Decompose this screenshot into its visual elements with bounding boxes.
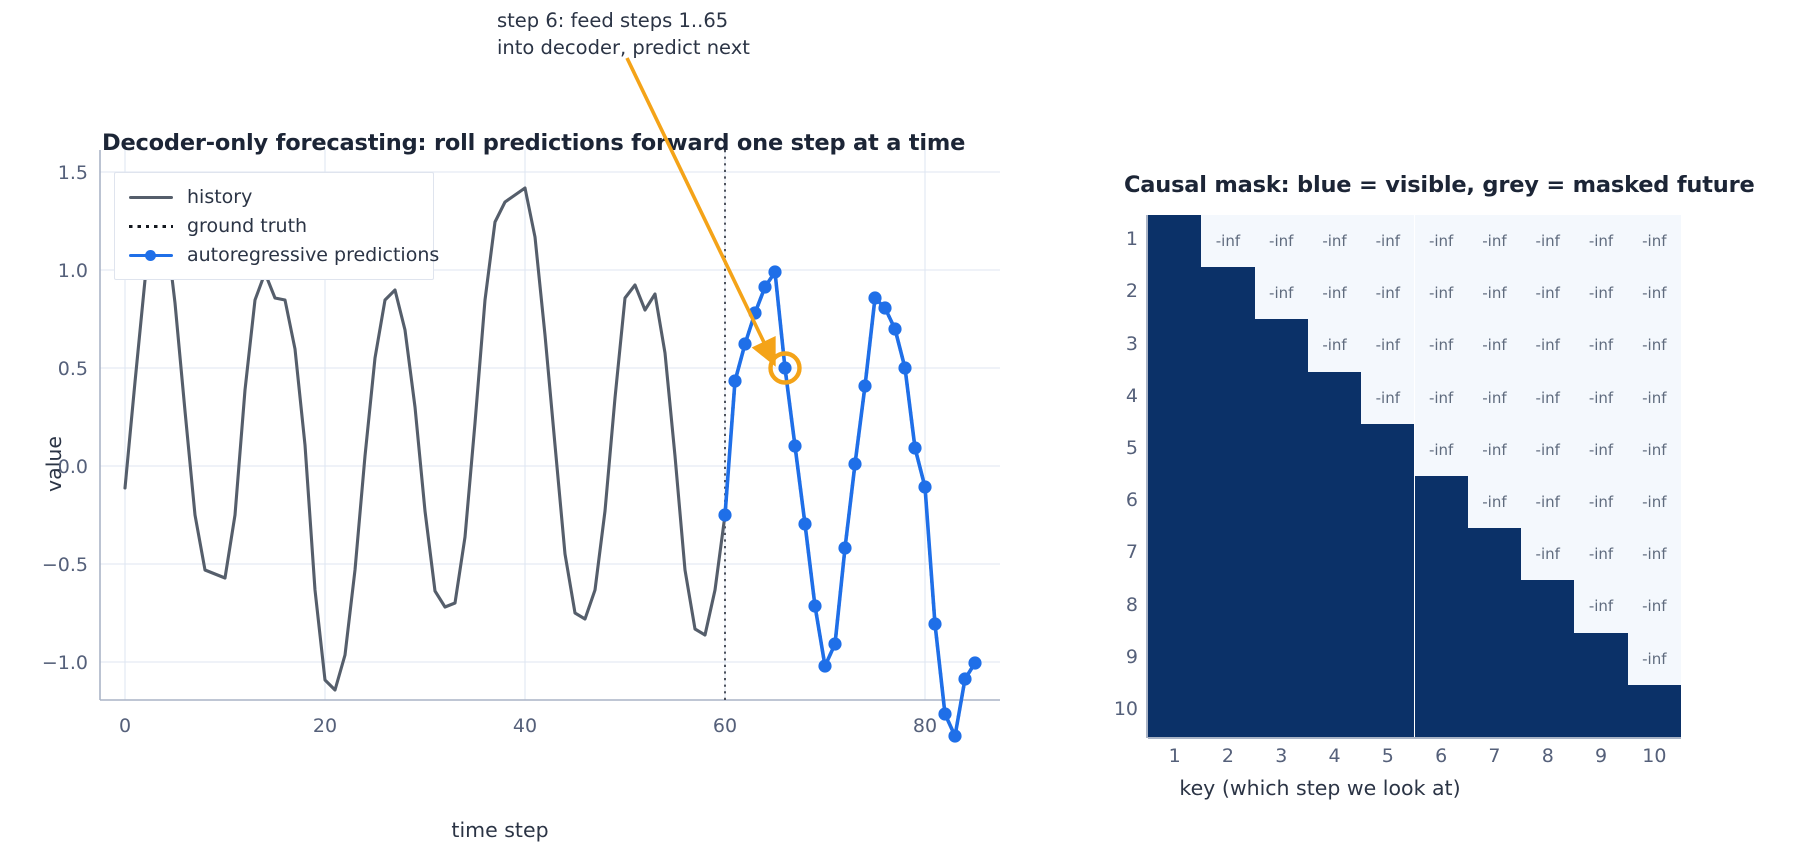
svg-text:0.5: 0.5 bbox=[58, 358, 88, 380]
legend-item-predictions: autoregressive predictions bbox=[127, 240, 421, 269]
heatmap-cell bbox=[1201, 424, 1254, 476]
heatmap-cell: -inf bbox=[1361, 372, 1414, 424]
heatmap-col-tick: 6 bbox=[1421, 745, 1461, 767]
heatmap-cell bbox=[1148, 528, 1201, 580]
heatmap-cell bbox=[1201, 685, 1254, 737]
heatmap-row-tick: 5 bbox=[1098, 437, 1138, 459]
svg-text:1.0: 1.0 bbox=[58, 260, 88, 282]
heatmap-cell bbox=[1308, 685, 1361, 737]
svg-text:1.5: 1.5 bbox=[58, 162, 88, 184]
heatmap-cell bbox=[1255, 476, 1308, 528]
history-line-swatch bbox=[127, 188, 175, 206]
heatmap-cell: -inf bbox=[1574, 580, 1627, 632]
heatmap-cell: -inf bbox=[1468, 319, 1521, 371]
heatmap-cell: -inf bbox=[1415, 215, 1468, 267]
heatmap-cell bbox=[1201, 267, 1254, 319]
heatmap-cell: -inf bbox=[1521, 476, 1574, 528]
heatmap-cell bbox=[1361, 424, 1414, 476]
heatmap-cell bbox=[1255, 528, 1308, 580]
heatmap-col-tick: 7 bbox=[1474, 745, 1514, 767]
heatmap-row-tick: 3 bbox=[1098, 333, 1138, 355]
heatmap-row-tick: 9 bbox=[1098, 646, 1138, 668]
svg-text:20: 20 bbox=[313, 715, 337, 737]
heatmap-col-tick: 2 bbox=[1208, 745, 1248, 767]
heatmap-cell: -inf bbox=[1415, 319, 1468, 371]
heatmap-cell bbox=[1521, 685, 1574, 737]
heatmap-cell: -inf bbox=[1468, 476, 1521, 528]
legend-item-history: history bbox=[127, 182, 421, 211]
left-x-axis-label: time step bbox=[370, 818, 630, 842]
heatmap-col-tick: 8 bbox=[1528, 745, 1568, 767]
heatmap-row-tick: 4 bbox=[1098, 385, 1138, 407]
heatmap-cell bbox=[1308, 476, 1361, 528]
heatmap-cell bbox=[1308, 528, 1361, 580]
annotation-line-2: into decoder, predict next bbox=[497, 36, 750, 59]
svg-text:80: 80 bbox=[913, 715, 937, 737]
heatmap-cell: -inf bbox=[1521, 372, 1574, 424]
heatmap-cell bbox=[1148, 633, 1201, 685]
heatmap-cell: -inf bbox=[1415, 372, 1468, 424]
heatmap-cell: -inf bbox=[1574, 424, 1627, 476]
heatmap-cell: -inf bbox=[1468, 215, 1521, 267]
heatmap-cell: -inf bbox=[1468, 424, 1521, 476]
heatmap-cell bbox=[1521, 580, 1574, 632]
causal-mask-heatmap: -inf-inf-inf-inf-inf-inf-inf-inf-inf-inf… bbox=[1148, 215, 1681, 737]
heatmap-cell bbox=[1148, 215, 1201, 267]
heatmap-cell bbox=[1148, 476, 1201, 528]
heatmap-cell: -inf bbox=[1201, 215, 1254, 267]
heatmap-cell: -inf bbox=[1468, 267, 1521, 319]
heatmap-cell bbox=[1148, 580, 1201, 632]
heatmap-cell: -inf bbox=[1521, 215, 1574, 267]
heatmap-cell: -inf bbox=[1255, 215, 1308, 267]
heatmap-row-tick: 10 bbox=[1098, 698, 1138, 720]
heatmap-cell bbox=[1628, 685, 1681, 737]
heatmap-left-spine bbox=[1146, 215, 1148, 738]
legend-label-ground-truth: ground truth bbox=[187, 215, 307, 237]
heatmap-cell: -inf bbox=[1628, 528, 1681, 580]
heatmap-col-tick: 4 bbox=[1315, 745, 1355, 767]
svg-text:−1.0: −1.0 bbox=[42, 652, 88, 674]
heatmap-cell bbox=[1361, 528, 1414, 580]
heatmap-cell: -inf bbox=[1628, 319, 1681, 371]
annotation-line-1: step 6: feed steps 1..65 bbox=[497, 9, 728, 32]
left-x-ticks: 0 20 40 60 80 bbox=[119, 715, 937, 737]
svg-text:60: 60 bbox=[713, 715, 737, 737]
heatmap-cell bbox=[1255, 424, 1308, 476]
heatmap-cell bbox=[1361, 476, 1414, 528]
heatmap-cell: -inf bbox=[1628, 424, 1681, 476]
heatmap-cell bbox=[1415, 633, 1468, 685]
heatmap-cell bbox=[1148, 372, 1201, 424]
heatmap-cell: -inf bbox=[1308, 215, 1361, 267]
annotation-text: step 6: feed steps 1..65 into decoder, p… bbox=[497, 8, 917, 62]
ground-truth-line-swatch bbox=[127, 217, 175, 235]
heatmap-cell bbox=[1308, 424, 1361, 476]
heatmap-cell: -inf bbox=[1628, 372, 1681, 424]
heatmap-cell: -inf bbox=[1521, 267, 1574, 319]
heatmap-cell bbox=[1361, 633, 1414, 685]
heatmap-cell bbox=[1468, 685, 1521, 737]
heatmap-cell bbox=[1468, 633, 1521, 685]
heatmap-col-tick: 10 bbox=[1634, 745, 1674, 767]
heatmap-cell bbox=[1255, 633, 1308, 685]
chart-legend: history ground truth autoregressive pred… bbox=[114, 172, 434, 280]
heatmap-cell bbox=[1415, 476, 1468, 528]
legend-label-history: history bbox=[187, 186, 252, 208]
left-y-ticks: 1.5 1.0 0.5 0.0 −0.5 −1.0 bbox=[42, 162, 88, 674]
heatmap-cell: -inf bbox=[1308, 319, 1361, 371]
heatmap-row-tick: 7 bbox=[1098, 541, 1138, 563]
heatmap-cell bbox=[1255, 685, 1308, 737]
heatmap-cell: -inf bbox=[1361, 267, 1414, 319]
heatmap-col-tick: 1 bbox=[1155, 745, 1195, 767]
heatmap-row-tick: 2 bbox=[1098, 280, 1138, 302]
heatmap-col-tick: 9 bbox=[1581, 745, 1621, 767]
heatmap-bottom-spine bbox=[1148, 737, 1681, 739]
right-x-axis-label: key (which step we look at) bbox=[1120, 776, 1520, 800]
heatmap-cell: -inf bbox=[1628, 580, 1681, 632]
heatmap-cell bbox=[1574, 633, 1627, 685]
heatmap-cell: -inf bbox=[1361, 319, 1414, 371]
heatmap-cell: -inf bbox=[1521, 528, 1574, 580]
svg-text:0: 0 bbox=[119, 715, 131, 737]
heatmap-cell bbox=[1468, 580, 1521, 632]
heatmap-cell bbox=[1201, 372, 1254, 424]
heatmap-cell bbox=[1415, 528, 1468, 580]
heatmap-cell: -inf bbox=[1468, 372, 1521, 424]
heatmap-cell bbox=[1255, 372, 1308, 424]
heatmap-cell: -inf bbox=[1574, 372, 1627, 424]
heatmap-cell: -inf bbox=[1574, 215, 1627, 267]
right-chart-title: Causal mask: blue = visible, grey = mask… bbox=[1124, 172, 1755, 198]
heatmap-cell bbox=[1308, 372, 1361, 424]
legend-label-predictions: autoregressive predictions bbox=[187, 244, 439, 266]
heatmap-cell bbox=[1201, 580, 1254, 632]
heatmap-cell: -inf bbox=[1574, 319, 1627, 371]
heatmap-cell bbox=[1574, 685, 1627, 737]
heatmap-cell bbox=[1148, 267, 1201, 319]
heatmap-cell bbox=[1415, 580, 1468, 632]
heatmap-cell bbox=[1201, 319, 1254, 371]
heatmap-cell bbox=[1148, 685, 1201, 737]
heatmap-cell: -inf bbox=[1628, 215, 1681, 267]
heatmap-cell bbox=[1308, 633, 1361, 685]
heatmap-row-tick: 6 bbox=[1098, 489, 1138, 511]
svg-text:40: 40 bbox=[513, 715, 537, 737]
heatmap-cell: -inf bbox=[1628, 633, 1681, 685]
heatmap-row-tick: 8 bbox=[1098, 594, 1138, 616]
heatmap-cell: -inf bbox=[1308, 267, 1361, 319]
heatmap-cell: -inf bbox=[1574, 528, 1627, 580]
heatmap-cell bbox=[1468, 528, 1521, 580]
heatmap-cell: -inf bbox=[1415, 424, 1468, 476]
heatmap-cell: -inf bbox=[1628, 476, 1681, 528]
heatmap-cell: -inf bbox=[1361, 215, 1414, 267]
heatmap-cell bbox=[1148, 319, 1201, 371]
heatmap-cell bbox=[1148, 424, 1201, 476]
prediction-line-swatch bbox=[127, 246, 175, 264]
heatmap-cell: -inf bbox=[1415, 267, 1468, 319]
heatmap-row-tick: 1 bbox=[1098, 228, 1138, 250]
heatmap-cell bbox=[1361, 685, 1414, 737]
legend-item-ground-truth: ground truth bbox=[127, 211, 421, 240]
heatmap-cell: -inf bbox=[1574, 267, 1627, 319]
heatmap-cell bbox=[1255, 580, 1308, 632]
heatmap-cell bbox=[1308, 580, 1361, 632]
heatmap-col-tick: 3 bbox=[1261, 745, 1301, 767]
heatmap-cell bbox=[1201, 528, 1254, 580]
heatmap-cell bbox=[1201, 633, 1254, 685]
prediction-line bbox=[725, 272, 975, 736]
heatmap-cell bbox=[1201, 476, 1254, 528]
heatmap-cell bbox=[1255, 319, 1308, 371]
svg-text:−0.5: −0.5 bbox=[42, 554, 88, 576]
heatmap-cell: -inf bbox=[1255, 267, 1308, 319]
svg-text:0.0: 0.0 bbox=[58, 456, 88, 478]
heatmap-cell: -inf bbox=[1628, 267, 1681, 319]
heatmap-cell: -inf bbox=[1521, 319, 1574, 371]
heatmap-cell bbox=[1415, 685, 1468, 737]
heatmap-cell: -inf bbox=[1574, 476, 1627, 528]
heatmap-cell: -inf bbox=[1521, 424, 1574, 476]
heatmap-cell bbox=[1361, 580, 1414, 632]
heatmap-cell bbox=[1521, 633, 1574, 685]
heatmap-col-tick: 5 bbox=[1368, 745, 1408, 767]
